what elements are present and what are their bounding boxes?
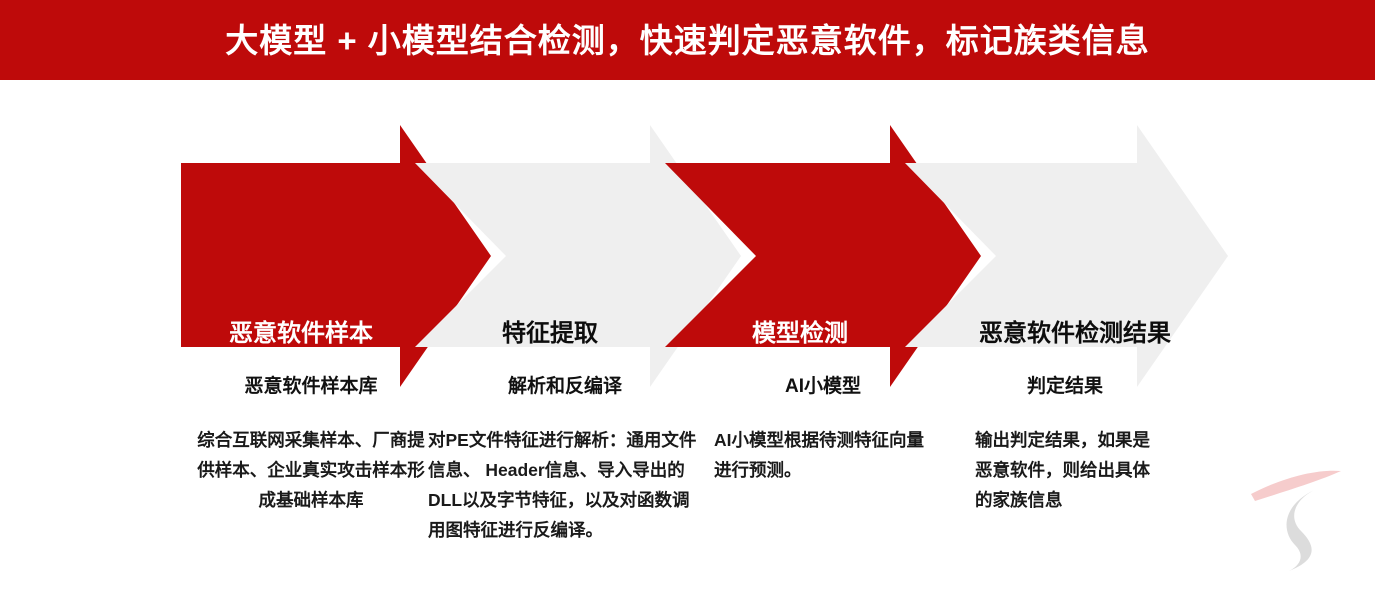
caption-heading-3: AI小模型 <box>714 375 932 399</box>
caption-column-3: AI小模型 AI小模型根据待测特征向量进行预测。 <box>714 375 932 485</box>
page-title: 大模型 + 小模型结合检测，快速判定恶意软件，标记族类信息 <box>225 24 1150 57</box>
chevron-arrows-graphic <box>0 80 1375 410</box>
caption-body-4: 输出判定结果，如果是恶意软件，则给出具体的家族信息 <box>975 425 1155 515</box>
caption-body-1: 综合互联网采集样本、厂商提供样本、企业真实攻击样本形成基础样本库 <box>196 425 426 515</box>
title-banner: 大模型 + 小模型结合检测，快速判定恶意软件，标记族类信息 <box>0 0 1375 80</box>
caption-column-2: 解析和反编译 对PE文件特征进行解析：通用文件信息、 Header信息、导入导出… <box>428 375 702 545</box>
process-flow-diagram: 恶意软件样本 特征提取 模型检测 恶意软件检测结果 <box>0 80 1375 410</box>
caption-column-4: 判定结果 输出判定结果，如果是恶意软件，则给出具体的家族信息 <box>975 375 1155 515</box>
stage-label-4: 恶意软件检测结果 <box>945 312 1205 356</box>
caption-row: 恶意软件样本库 综合互联网采集样本、厂商提供样本、企业真实攻击样本形成基础样本库… <box>0 375 1375 589</box>
caption-heading-2: 解析和反编译 <box>428 375 702 399</box>
stage-label-2: 特征提取 <box>450 312 650 356</box>
caption-body-2: 对PE文件特征进行解析：通用文件信息、 Header信息、导入导出的DLL以及字… <box>428 425 702 545</box>
caption-column-1: 恶意软件样本库 综合互联网采集样本、厂商提供样本、企业真实攻击样本形成基础样本库 <box>196 375 426 515</box>
caption-body-3: AI小模型根据待测特征向量进行预测。 <box>714 425 932 485</box>
caption-heading-1: 恶意软件样本库 <box>196 375 426 399</box>
stage-label-3: 模型检测 <box>700 312 900 356</box>
caption-heading-4: 判定结果 <box>975 375 1155 399</box>
stage-label-1: 恶意软件样本 <box>181 312 421 356</box>
